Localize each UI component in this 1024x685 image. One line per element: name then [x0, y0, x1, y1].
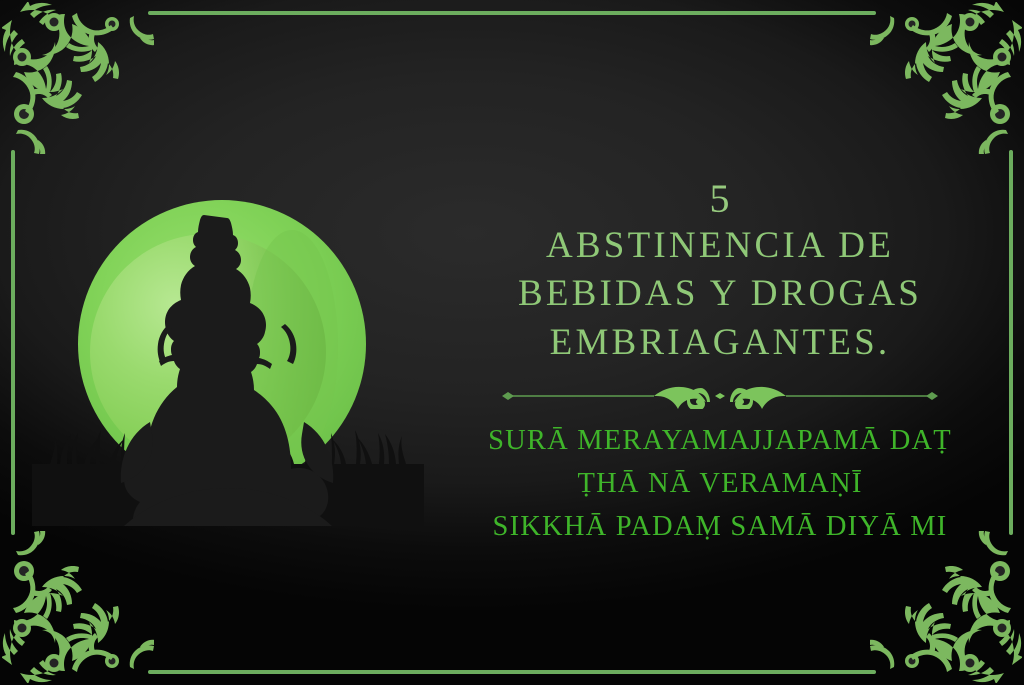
border-left-rule [11, 150, 15, 535]
border-top-rule [148, 11, 876, 15]
pali-line: SURĀ MERAYAMAJJAPAMĀ DAṬ [430, 419, 1010, 462]
floral-corner-flourish-icon [870, 531, 1022, 683]
border-bottom-rule [148, 670, 876, 674]
headline-line: EMBRIAGANTES. [430, 319, 1010, 367]
precept-number: 5 [430, 178, 1010, 220]
poster-canvas: 5 ABSTINENCIA DE BEBIDAS Y DROGAS EMBRIA… [0, 0, 1024, 685]
floral-corner-flourish-icon [2, 531, 154, 683]
page-title: ABSTINENCIA DE BEBIDAS Y DROGAS EMBRIAGA… [430, 222, 1010, 366]
pali-line: SIKKHĀ PADAṂ SAMĀ DIYĀ MI [430, 505, 1010, 548]
headline-line: ABSTINENCIA DE [430, 222, 1010, 270]
pali-line: ṬHĀ NĀ VERAMAṆĪ [430, 462, 1010, 505]
floral-corner-flourish-icon [2, 2, 154, 154]
headline-line: BEBIDAS Y DROGAS [430, 270, 1010, 318]
scrollwork-divider-icon [494, 383, 946, 409]
pali-verse: SURĀ MERAYAMAJJAPAMĀ DAṬ ṬHĀ NĀ VERAMAṆĪ… [430, 419, 1010, 549]
meditating-buddha-silhouette [32, 196, 424, 526]
floral-corner-flourish-icon [870, 2, 1022, 154]
text-block: 5 ABSTINENCIA DE BEBIDAS Y DROGAS EMBRIA… [430, 178, 1010, 549]
